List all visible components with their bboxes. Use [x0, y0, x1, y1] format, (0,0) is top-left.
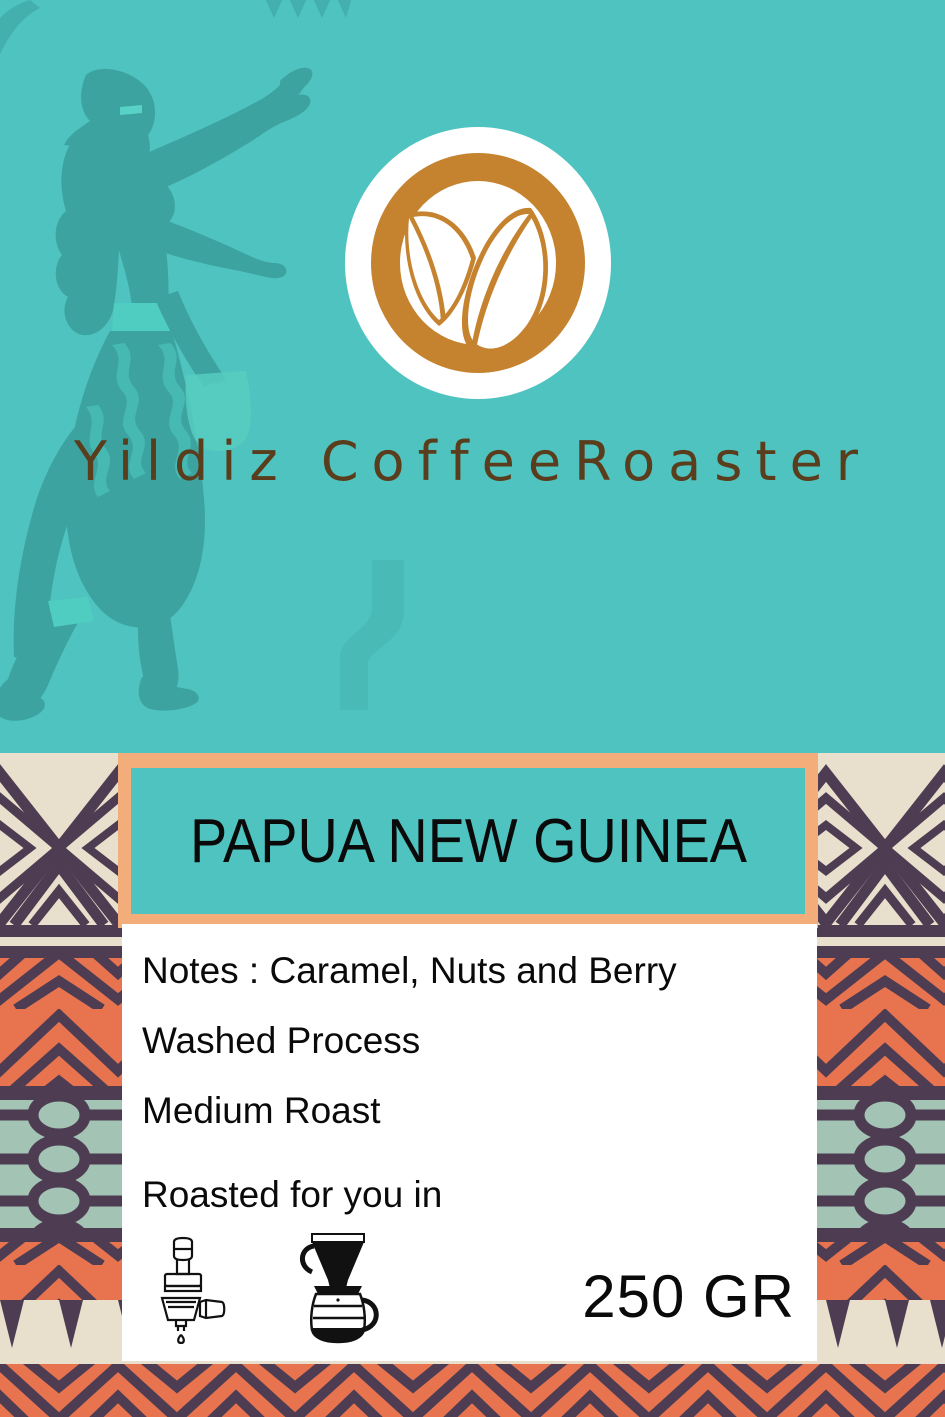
origin-box: PAPUA NEW GUINEA — [131, 768, 805, 914]
detail-line-roast: Medium Roast — [142, 1092, 802, 1129]
coffee-package-label: Yildiz CoffeeRoaster — [0, 0, 945, 1417]
pour-over-dripper-carafe-icon — [288, 1232, 386, 1344]
coffee-bean-circle-logo-icon — [343, 126, 613, 401]
roasted-for-label: Roasted for you in — [142, 1174, 442, 1216]
hero-section: Yildiz CoffeeRoaster — [0, 0, 945, 753]
detail-line-process: Washed Process — [142, 1022, 802, 1059]
detail-line-notes: Notes : Caramel, Nuts and Berry — [142, 952, 802, 989]
hook-decoration-icon — [320, 560, 440, 710]
tasting-notes-list: Notes : Caramel, Nuts and Berry Washed P… — [142, 952, 802, 1162]
espresso-portafilter-tamper-icon — [148, 1236, 226, 1344]
brand-logo — [343, 126, 613, 401]
details-card: Notes : Caramel, Nuts and Berry Washed P… — [122, 924, 817, 1361]
origin-name: PAPUA NEW GUINEA — [189, 806, 746, 877]
woman-walking-silhouette-icon — [0, 15, 330, 735]
net-weight: 250 GR — [582, 1262, 795, 1331]
brew-method-icons — [148, 1232, 386, 1344]
brand-name: Yildiz CoffeeRoaster — [0, 430, 945, 493]
